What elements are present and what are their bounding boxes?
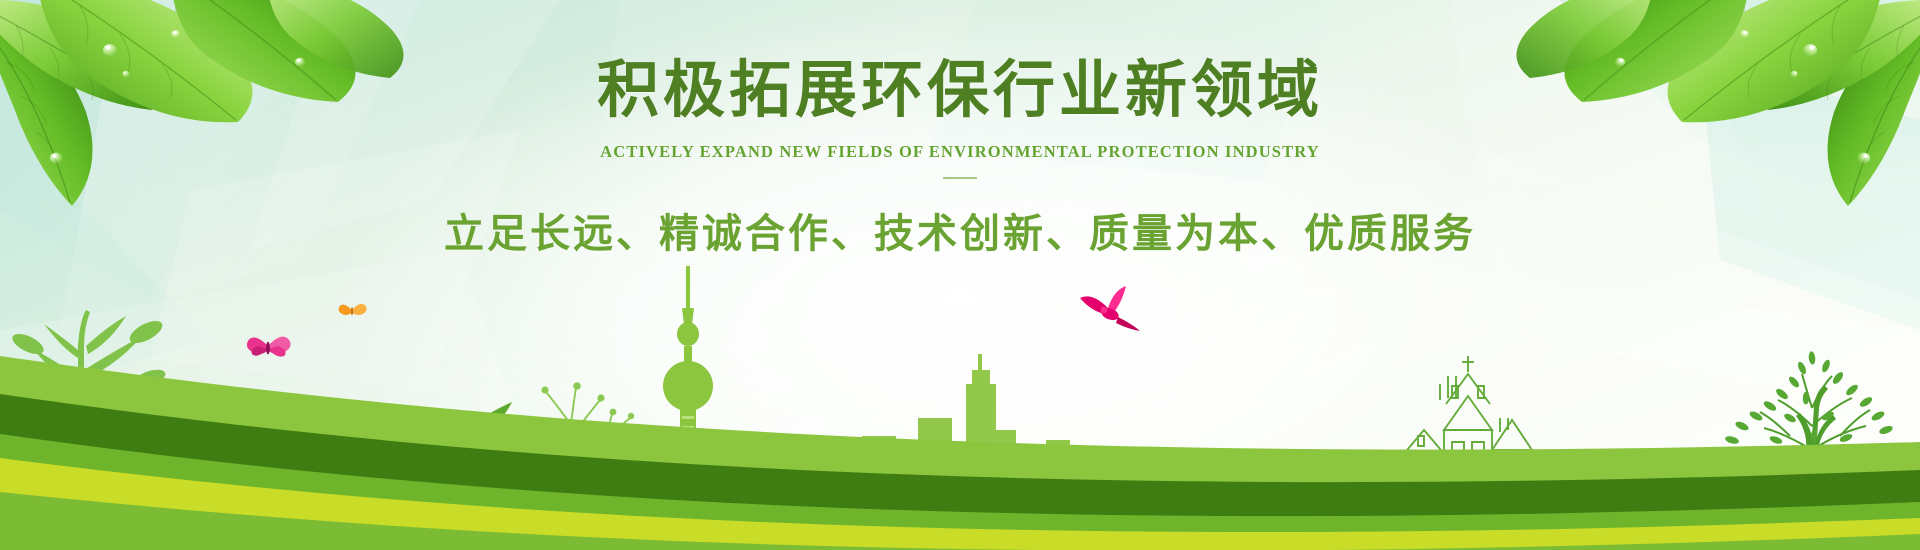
leaf-cluster-top-right bbox=[1490, 0, 1920, 230]
environmental-banner: 积极拓展环保行业新领域 ACTIVELY EXPAND NEW FIELDS O… bbox=[0, 0, 1920, 550]
butterfly-orange-icon bbox=[339, 304, 367, 315]
wave-bands bbox=[0, 320, 1920, 550]
title-divider bbox=[943, 177, 977, 179]
leaf-cluster-top-left bbox=[0, 0, 430, 230]
